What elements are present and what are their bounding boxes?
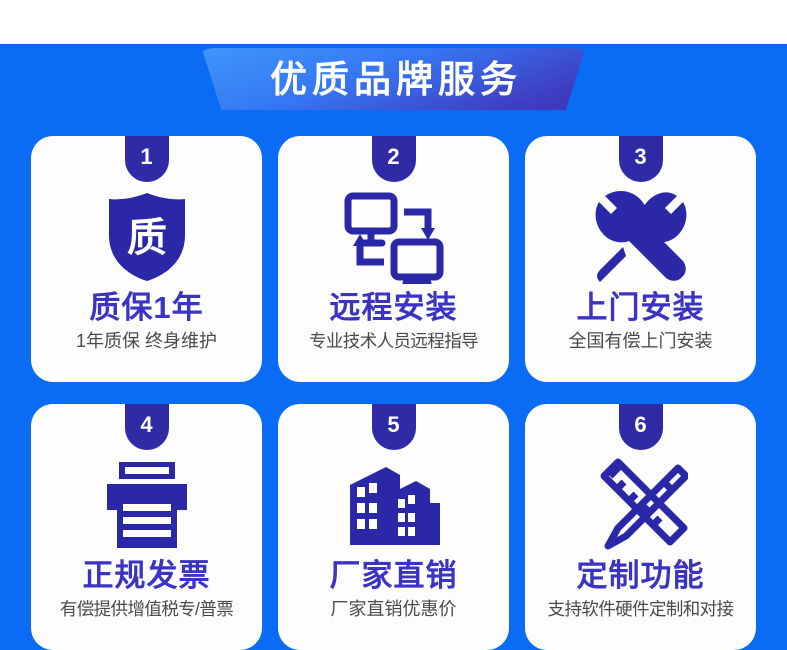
shield-quality-icon: 质 — [104, 188, 190, 286]
service-card-factory-direct[interactable]: 5 — [278, 404, 509, 650]
card-number-badge: 2 — [372, 136, 416, 182]
card-title: 定制功能 — [577, 560, 705, 593]
card-title: 远程安装 — [330, 292, 458, 325]
card-subtitle: 全国有偿上门安装 — [569, 332, 713, 352]
card-number-badge: 3 — [619, 136, 663, 182]
service-card-remote-install[interactable]: 2 远程安装 专业技术人员远程指导 — [278, 136, 509, 382]
card-number-badge: 6 — [619, 404, 663, 450]
printer-invoice-icon — [99, 456, 195, 554]
service-promo-page: 优质品牌服务 1 质 质保1年 1年质保 终身维护 2 — [0, 0, 787, 650]
service-card-onsite-install[interactable]: 3 上门安装 全国有偿上门安装 — [525, 136, 756, 382]
card-subtitle: 厂家直销优惠价 — [331, 600, 457, 620]
card-number-badge: 5 — [372, 404, 416, 450]
header-banner: 优质品牌服务 — [189, 48, 599, 110]
card-title: 正规发票 — [83, 560, 211, 593]
service-card-invoice[interactable]: 4 正规发票 有偿提供增值税专/普票 — [31, 404, 262, 650]
service-card-custom-function[interactable]: 6 定制功能 支持软件硬件定制和对接 — [525, 404, 756, 650]
card-title: 厂家直销 — [330, 560, 458, 593]
card-subtitle: 支持软件硬件定制和对接 — [548, 600, 734, 619]
card-title: 质保1年 — [89, 292, 203, 325]
remote-monitors-icon — [344, 188, 444, 286]
card-number-badge: 4 — [125, 404, 169, 450]
banner-container: 优质品牌服务 — [0, 48, 787, 112]
card-subtitle: 专业技术人员远程指导 — [309, 332, 478, 351]
card-subtitle: 1年质保 终身维护 — [76, 332, 217, 352]
card-title: 上门安装 — [577, 292, 705, 325]
service-card-grid: 1 质 质保1年 1年质保 终身维护 2 — [31, 136, 756, 650]
pencil-ruler-icon — [594, 456, 688, 554]
card-number-badge: 1 — [125, 136, 169, 182]
factory-buildings-icon — [344, 456, 444, 554]
svg-text:质: 质 — [127, 216, 167, 260]
card-subtitle: 有偿提供增值税专/普票 — [60, 600, 233, 619]
service-card-quality-warranty[interactable]: 1 质 质保1年 1年质保 终身维护 — [31, 136, 262, 382]
crossed-wrenches-icon — [593, 188, 689, 286]
banner-title: 优质品牌服务 — [265, 61, 522, 98]
